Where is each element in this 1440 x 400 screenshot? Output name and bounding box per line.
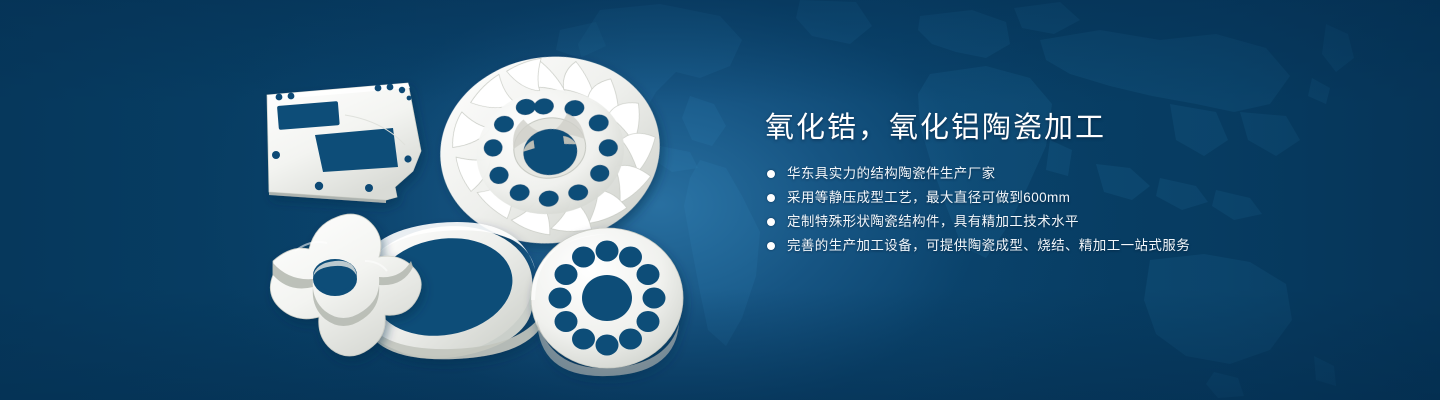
part-ceramic-perforated-disc xyxy=(531,228,683,376)
list-item-label: 完善的生产加工设备，可提供陶瓷成型、烧结、精加工一站式服务 xyxy=(787,238,1190,253)
bullet-dot-icon xyxy=(767,194,775,202)
page-title: 氧化锆，氧化铝陶瓷加工 xyxy=(765,108,1385,148)
list-item: 定制特殊形状陶瓷结构件，具有精加工技术水平 xyxy=(765,214,1385,230)
hero-text-block: 氧化锆，氧化铝陶瓷加工 华东具实力的结构陶瓷件生产厂家 采用等静压成型工艺，最大… xyxy=(765,108,1385,270)
list-item-label: 定制特殊形状陶瓷结构件，具有精加工技术水平 xyxy=(787,214,1079,229)
feature-list: 华东具实力的结构陶瓷件生产厂家 采用等静压成型工艺，最大直径可做到600mm 定… xyxy=(765,166,1385,254)
bullet-dot-icon xyxy=(767,170,775,178)
list-item-label: 采用等静压成型工艺，最大直径可做到600mm xyxy=(787,190,1070,205)
bullet-dot-icon xyxy=(767,242,775,250)
list-item-label: 华东具实力的结构陶瓷件生产厂家 xyxy=(787,166,996,181)
list-item: 完善的生产加工设备，可提供陶瓷成型、烧结、精加工一站式服务 xyxy=(765,238,1385,254)
list-item: 华东具实力的结构陶瓷件生产厂家 xyxy=(765,166,1385,182)
part-ceramic-plate xyxy=(267,83,421,203)
bullet-dot-icon xyxy=(767,218,775,226)
list-item: 采用等静压成型工艺，最大直径可做到600mm xyxy=(765,190,1385,206)
product-photo xyxy=(245,55,705,390)
ceramic-parts-illustration xyxy=(245,55,705,390)
hero-banner: 氧化锆，氧化铝陶瓷加工 华东具实力的结构陶瓷件生产厂家 采用等静压成型工艺，最大… xyxy=(0,0,1440,400)
